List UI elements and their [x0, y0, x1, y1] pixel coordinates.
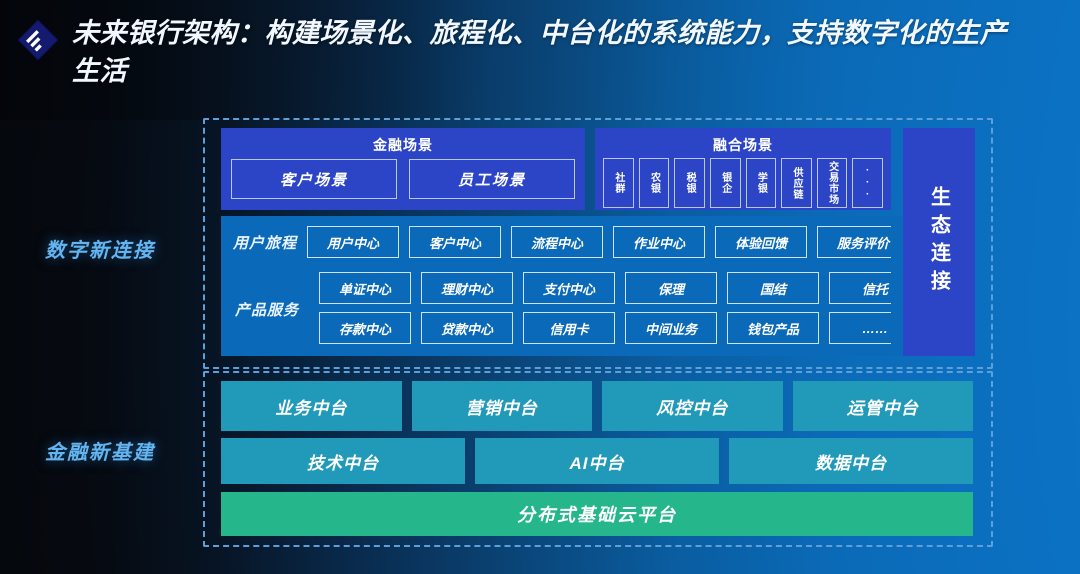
product-chip-r1-3[interactable]: 保理: [625, 272, 717, 304]
fusion-scene-cells: 社群 农银 税银 银企 学银 供应链 交易市场 ···: [603, 158, 883, 208]
user-journey-label: 用户旅程: [233, 232, 297, 253]
product-chip-r1-4[interactable]: 国结: [727, 272, 819, 304]
journey-chip-3[interactable]: 作业中心: [613, 226, 705, 258]
platform-marketing[interactable]: 营销中台: [412, 381, 593, 431]
product-chip-r2-3[interactable]: 中间业务: [625, 312, 717, 344]
platform-risk[interactable]: 风控中台: [602, 381, 783, 431]
product-chip-r2-0[interactable]: 存款中心: [319, 312, 411, 344]
page-title: 未来银行架构：构建场景化、旅程化、中台化的系统能力，支持数字化的生产生活: [72, 14, 1012, 90]
product-row-2: 存款中心 贷款中心 信用卡 中间业务 钱包产品 ……: [319, 312, 881, 344]
platform-row-1: 业务中台 营销中台 风控中台 运管中台: [221, 381, 973, 431]
distributed-cloud-platform[interactable]: 分布式基础云平台: [221, 492, 973, 536]
fusion-cell-4[interactable]: 学银: [746, 158, 777, 208]
journey-chip-1[interactable]: 客户中心: [409, 226, 501, 258]
platform-operations[interactable]: 运管中台: [793, 381, 974, 431]
journey-chip-0[interactable]: 用户中心: [307, 226, 399, 258]
platform-row-2: 技术中台 AI中台 数据中台: [221, 438, 973, 484]
platform-business[interactable]: 业务中台: [221, 381, 402, 431]
scene-cell-customer[interactable]: 客户场景: [231, 159, 397, 199]
product-chip-r1-2[interactable]: 支付中心: [523, 272, 615, 304]
product-chip-r2-2[interactable]: 信用卡: [523, 312, 615, 344]
platform-ai[interactable]: AI中台: [475, 438, 719, 484]
fusion-cell-5[interactable]: 供应链: [781, 158, 812, 208]
journey-chip-2[interactable]: 流程中心: [511, 226, 603, 258]
financial-scene-title: 金融场景: [221, 135, 585, 155]
product-service-label: 产品服务: [235, 299, 299, 320]
product-service-grid: 单证中心 理财中心 支付中心 保理 国结 信托 存款中心 贷款中心 信用卡 中间…: [319, 272, 881, 352]
fusion-scene-title: 融合场景: [595, 135, 891, 155]
fusion-cell-7[interactable]: ···: [852, 158, 883, 208]
section-label-digital-connection: 数字新连接: [45, 234, 155, 263]
fusion-cell-6[interactable]: 交易市场: [817, 158, 848, 208]
product-chip-r1-0[interactable]: 单证中心: [319, 272, 411, 304]
fusion-scene-panel: 融合场景 社群 农银 税银 银企 学银 供应链 交易市场 ···: [595, 128, 891, 210]
platform-technology[interactable]: 技术中台: [221, 438, 465, 484]
fusion-cell-0[interactable]: 社群: [603, 158, 634, 208]
eco-connection-column[interactable]: 生态连接: [903, 128, 975, 356]
product-chip-r1-1[interactable]: 理财中心: [421, 272, 513, 304]
fusion-cell-3[interactable]: 银企: [710, 158, 741, 208]
section-label-financial-infrastructure: 金融新基建: [45, 436, 155, 465]
user-journey-row: 用户旅程 用户中心 客户中心 流程中心 作业中心 体验回馈 服务评价: [233, 226, 881, 258]
platform-data[interactable]: 数据中台: [729, 438, 973, 484]
product-chip-r2-1[interactable]: 贷款中心: [421, 312, 513, 344]
diamond-logo-icon: [16, 20, 60, 60]
journey-product-band: 用户旅程 用户中心 客户中心 流程中心 作业中心 体验回馈 服务评价 产品服务 …: [221, 216, 891, 356]
product-row-1: 单证中心 理财中心 支付中心 保理 国结 信托: [319, 272, 881, 304]
eco-connection-label: 生态连接: [925, 186, 954, 298]
fusion-cell-1[interactable]: 农银: [639, 158, 670, 208]
scene-cell-employee[interactable]: 员工场景: [409, 159, 575, 199]
product-chip-r2-4[interactable]: 钱包产品: [727, 312, 819, 344]
fusion-cell-2[interactable]: 税银: [674, 158, 705, 208]
slide-header: 未来银行架构：构建场景化、旅程化、中台化的系统能力，支持数字化的生产生活: [0, 0, 1080, 104]
financial-scene-panel: 金融场景 客户场景 员工场景: [221, 128, 585, 210]
journey-chip-4[interactable]: 体验回馈: [715, 226, 807, 258]
financial-scene-cells: 客户场景 员工场景: [231, 159, 575, 199]
